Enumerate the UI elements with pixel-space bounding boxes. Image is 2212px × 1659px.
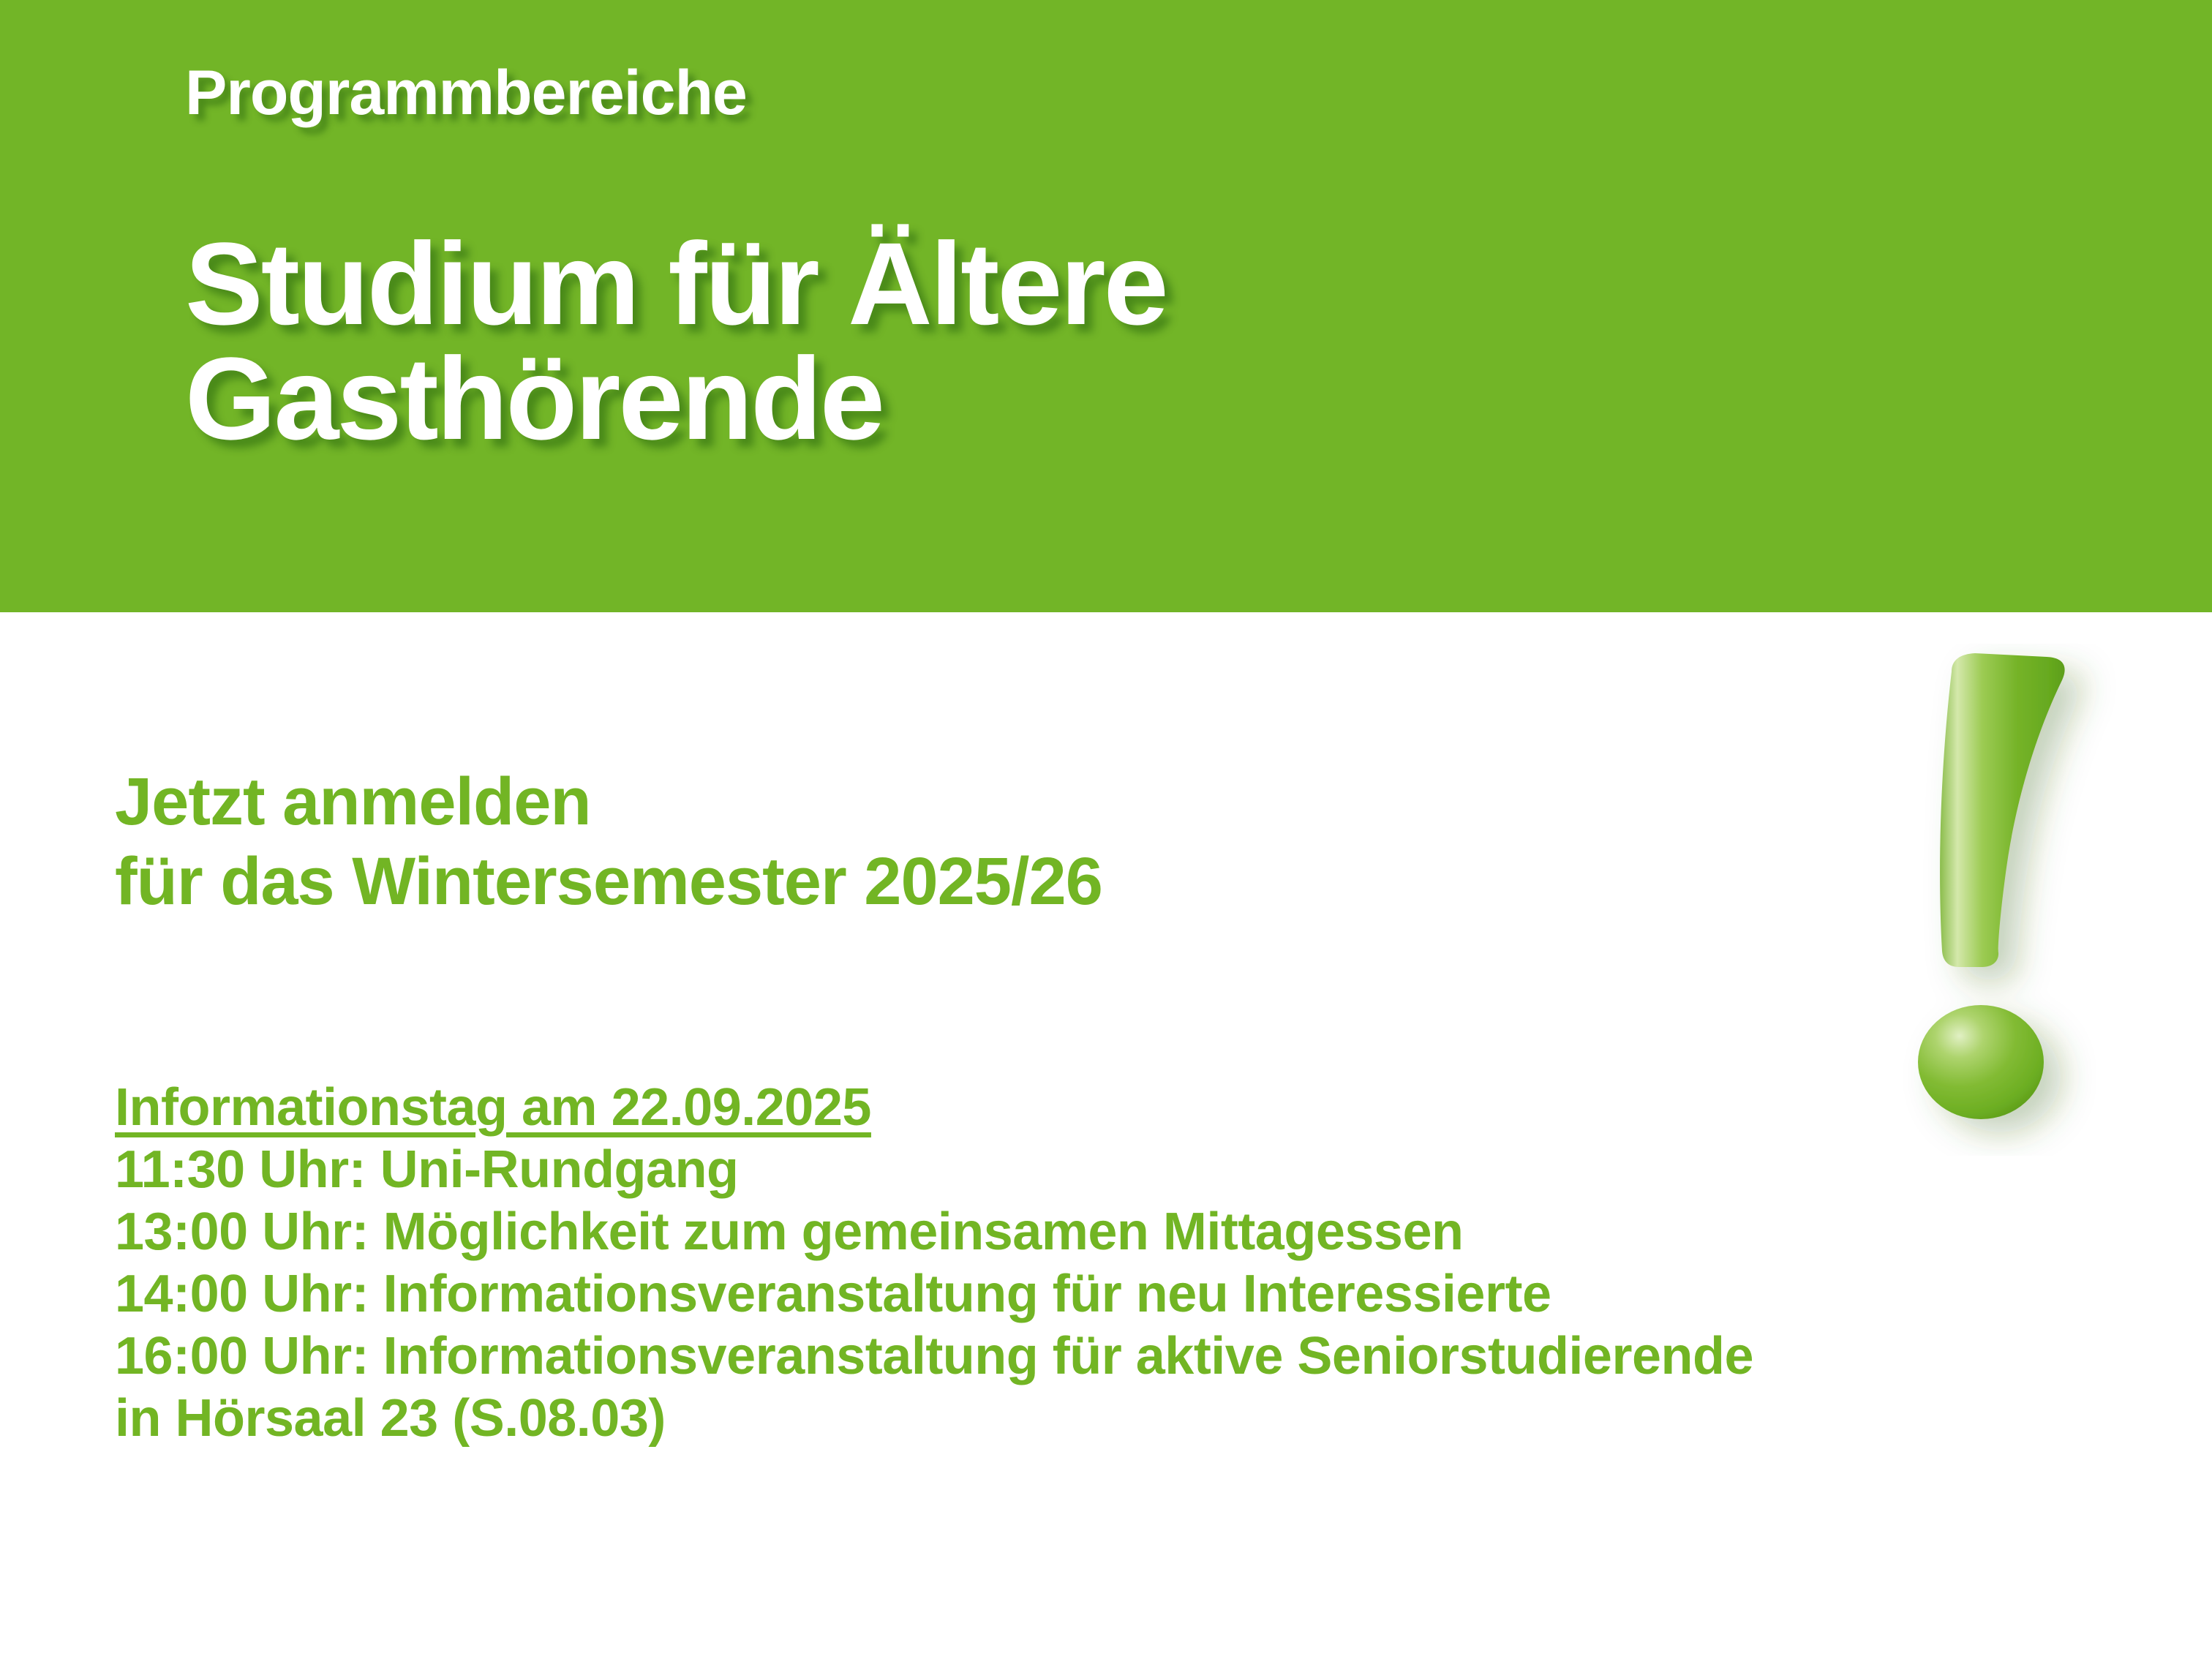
schedule-item-4: 16:00 Uhr: Informationsveranstaltung für… — [115, 1325, 1753, 1388]
cta-line-1: Jetzt anmelden — [115, 762, 1102, 842]
exclamation-dot — [1918, 1005, 2044, 1119]
header-band: Programmbereiche Studium für Ältere Gast… — [0, 0, 2212, 612]
page-title: Studium für Ältere Gasthörende — [185, 227, 1167, 456]
call-to-action: Jetzt anmelden für das Wintersemester 20… — [115, 762, 1102, 921]
schedule-heading: Informationstag am 22.09.2025 — [115, 1077, 1753, 1139]
page-title-line-1: Studium für Ältere — [185, 227, 1167, 342]
schedule-item-5: in Hörsaal 23 (S.08.03) — [115, 1388, 1753, 1450]
schedule-item-2: 13:00 Uhr: Möglichkeit zum gemeinsamen M… — [115, 1201, 1753, 1263]
exclamation-mark-icon — [1873, 644, 2180, 1156]
exclamation-stem — [1940, 653, 2065, 967]
exclamation-mark-svg — [1873, 644, 2180, 1156]
schedule-item-1: 11:30 Uhr: Uni-Rundgang — [115, 1139, 1753, 1201]
schedule-block: Informationstag am 22.09.2025 11:30 Uhr:… — [115, 1077, 1753, 1450]
kicker-label: Programmbereiche — [185, 60, 747, 126]
schedule-item-3: 14:00 Uhr: Informationsveranstaltung für… — [115, 1263, 1753, 1325]
page-title-line-2: Gasthörende — [185, 342, 1167, 456]
poster-canvas: Programmbereiche Studium für Ältere Gast… — [0, 0, 2212, 1659]
cta-line-2: für das Wintersemester 2025/26 — [115, 842, 1102, 922]
